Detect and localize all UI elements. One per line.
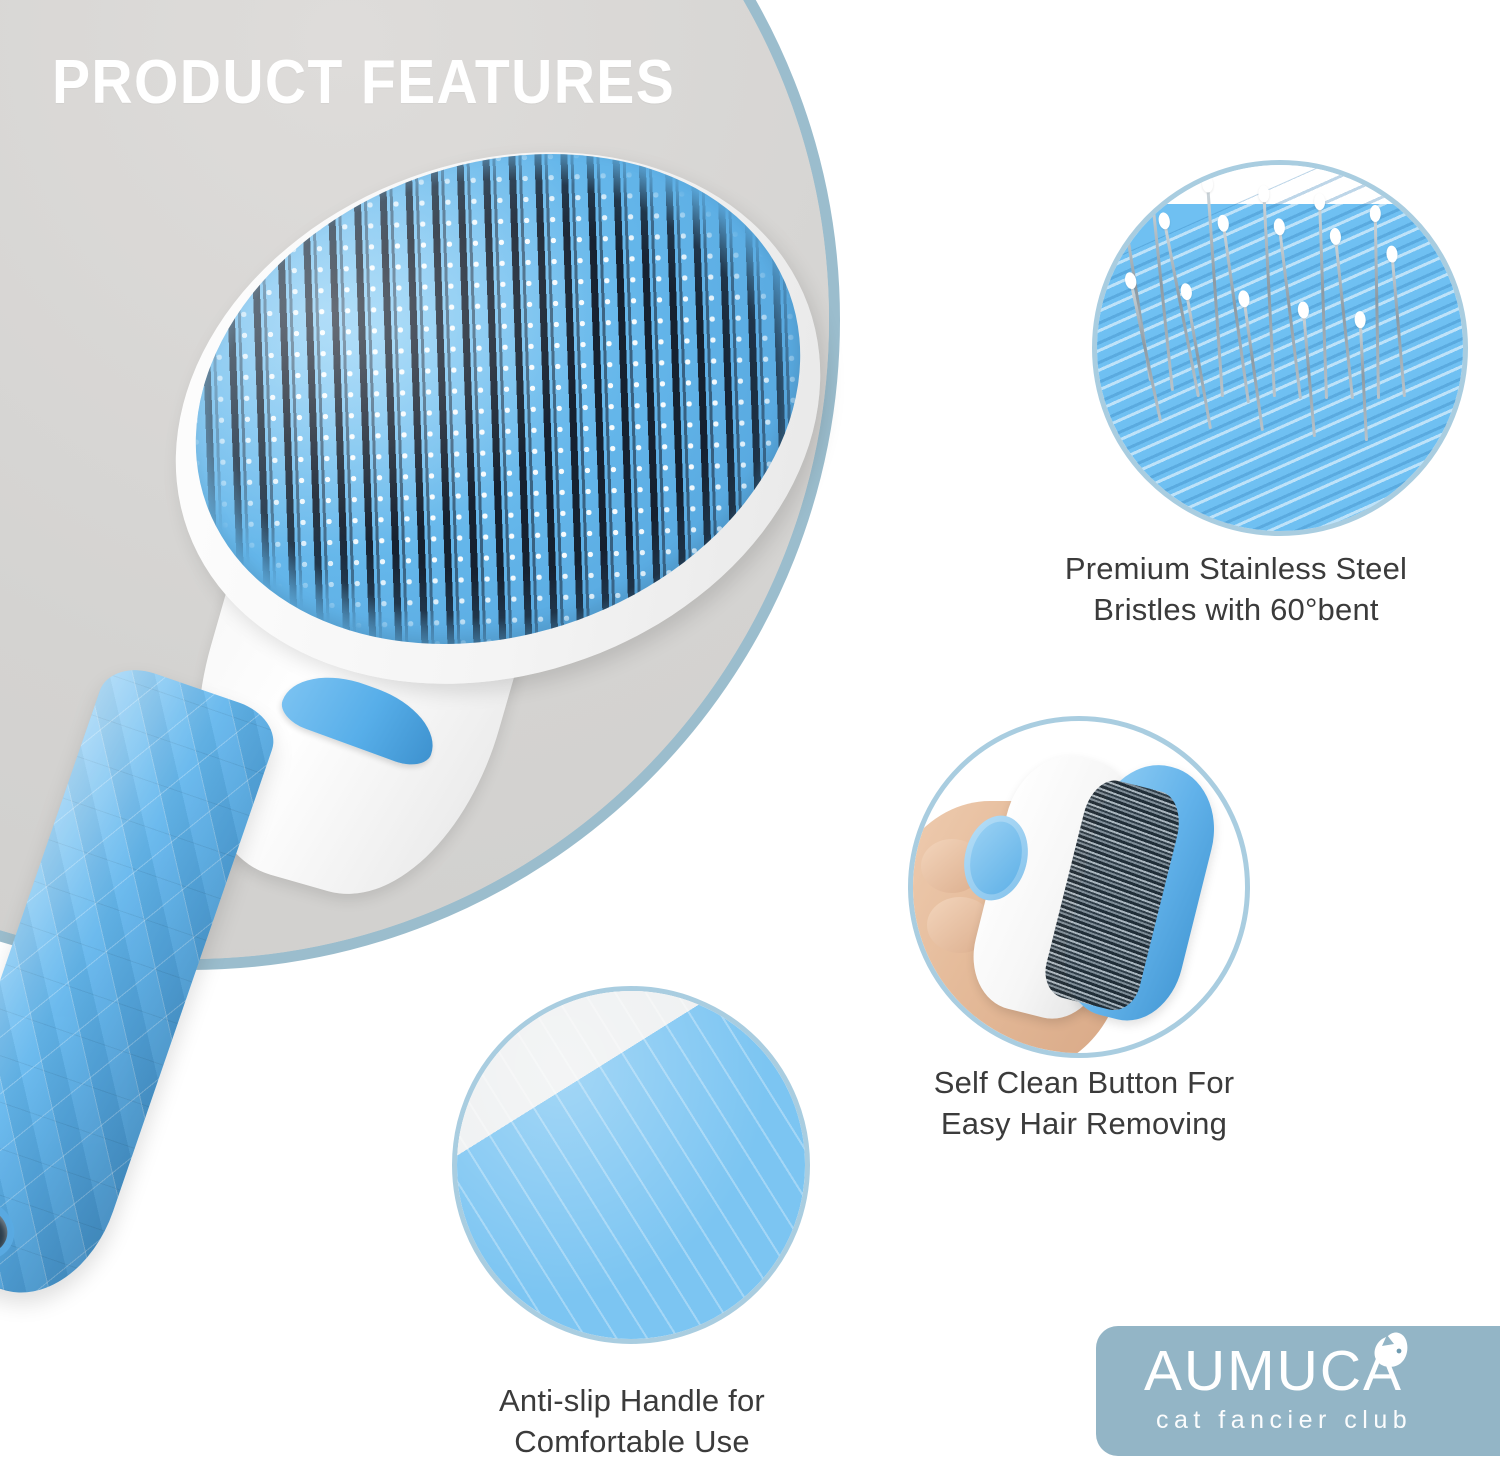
brand-badge: AUMUCA cat fancier club bbox=[1096, 1326, 1500, 1456]
caption-handle: Anti-slip Handle for Comfortable Use bbox=[430, 1380, 834, 1462]
brand-tagline: cat fancier club bbox=[1156, 1406, 1500, 1435]
page-title: PRODUCT FEATURES bbox=[52, 52, 675, 114]
brand-name: AUMUCA bbox=[1144, 1340, 1500, 1402]
caption-line: Comfortable Use bbox=[430, 1421, 834, 1462]
caption-line: Easy Hair Removing bbox=[880, 1103, 1288, 1144]
caption-bristles: Premium Stainless Steel Bristles with 60… bbox=[1040, 548, 1432, 630]
caption-line: Premium Stainless Steel bbox=[1040, 548, 1432, 589]
feature-image-handle bbox=[452, 986, 810, 1344]
caption-line: Anti-slip Handle for bbox=[430, 1380, 834, 1421]
brand-wordmark-row: AUMUCA bbox=[1144, 1340, 1500, 1402]
feature-image-self-clean bbox=[908, 716, 1250, 1058]
bristle-ridges bbox=[1092, 160, 1468, 536]
feature-image-bristles bbox=[1092, 160, 1468, 536]
caption-self-clean: Self Clean Button For Easy Hair Removing bbox=[880, 1062, 1288, 1144]
caption-line: Bristles with 60°bent bbox=[1040, 589, 1432, 630]
cat-head-icon bbox=[1358, 1332, 1410, 1380]
caption-line: Self Clean Button For bbox=[880, 1062, 1288, 1103]
handle-band-wrap bbox=[457, 991, 805, 1339]
product-features-image: PRODUCT FEATURES bbox=[0, 0, 1500, 1463]
handle-band-gloss bbox=[457, 991, 805, 1339]
